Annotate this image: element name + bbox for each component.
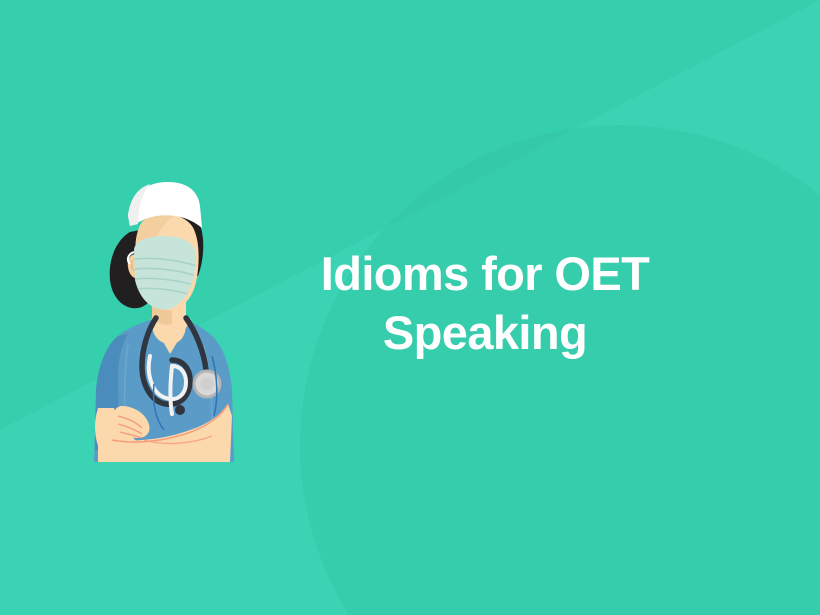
stethoscope-inner-tube [171,366,173,414]
banner-image: Idioms for OET Speaking [0,0,820,615]
page-title-line-2: Speaking [290,303,680,362]
page-title: Idioms for OET Speaking [290,244,680,362]
stethoscope-clip [175,405,185,415]
page-title-line-1: Idioms for OET [290,244,680,303]
nurse-illustration [72,168,272,468]
stethoscope-chestpiece-inner [201,378,214,391]
